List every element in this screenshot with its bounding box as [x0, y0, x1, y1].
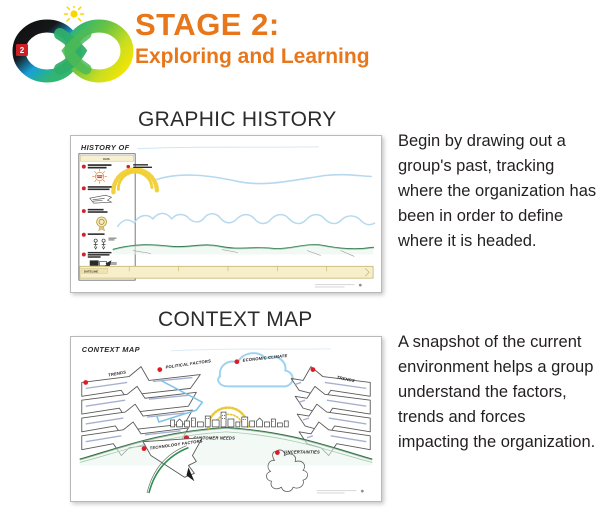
- stage-label: STAGE 2:: [135, 8, 370, 42]
- cm-panel-title: CONTEXT MAP: [82, 345, 140, 354]
- bullet-dot-icon: [82, 253, 86, 257]
- bullet-dot-icon: [82, 165, 86, 169]
- stage-subtitle: Exploring and Learning: [135, 44, 370, 70]
- context-map-template-image[interactable]: CONTEXT MAP ECONOMIC CLIMATE TRENDS POLI…: [70, 336, 382, 502]
- bullet-dot-icon: [234, 359, 239, 364]
- gh-sidebar-header: DATE: [103, 157, 110, 161]
- infinity-loop-logo: 2: [12, 6, 134, 84]
- section-heading-graphic-history: GRAPHIC HISTORY: [138, 108, 337, 132]
- stage-title-block: STAGE 2: Exploring and Learning: [135, 8, 370, 70]
- section-heading-context-map: CONTEXT MAP: [158, 308, 313, 332]
- section-copy-graphic-history: Begin by drawing out a group's past, tra…: [398, 129, 598, 254]
- bullet-dot-icon: [157, 367, 162, 372]
- bullet-dot-icon: [311, 367, 316, 372]
- bullet-dot-icon: [82, 233, 86, 237]
- gh-dateline-label: DATELINE: [84, 269, 99, 273]
- bullet-dot-icon: [83, 380, 88, 385]
- graphic-history-template-image[interactable]: HISTORY OF DATE: [70, 135, 382, 293]
- cm-label-uncertainties: UNCERTAINTIES: [284, 450, 320, 455]
- section-copy-context-map: A snapshot of the current environment he…: [398, 330, 598, 455]
- page-header: 2 STAGE 2: Exploring and Learning: [0, 0, 601, 96]
- bullet-dot-icon: [142, 446, 147, 451]
- stage-badge-number: 2: [20, 46, 25, 55]
- stage-badge: 2: [16, 44, 28, 56]
- gh-dateline: DATELINE: [80, 266, 373, 278]
- bullet-dot-icon: [82, 209, 86, 213]
- bullet-dot-icon: [82, 186, 86, 190]
- bullet-dot-icon: [275, 450, 280, 455]
- gh-panel-title: HISTORY OF: [81, 143, 130, 152]
- bullet-dot-icon: [126, 165, 130, 169]
- sun-icon: [65, 6, 84, 21]
